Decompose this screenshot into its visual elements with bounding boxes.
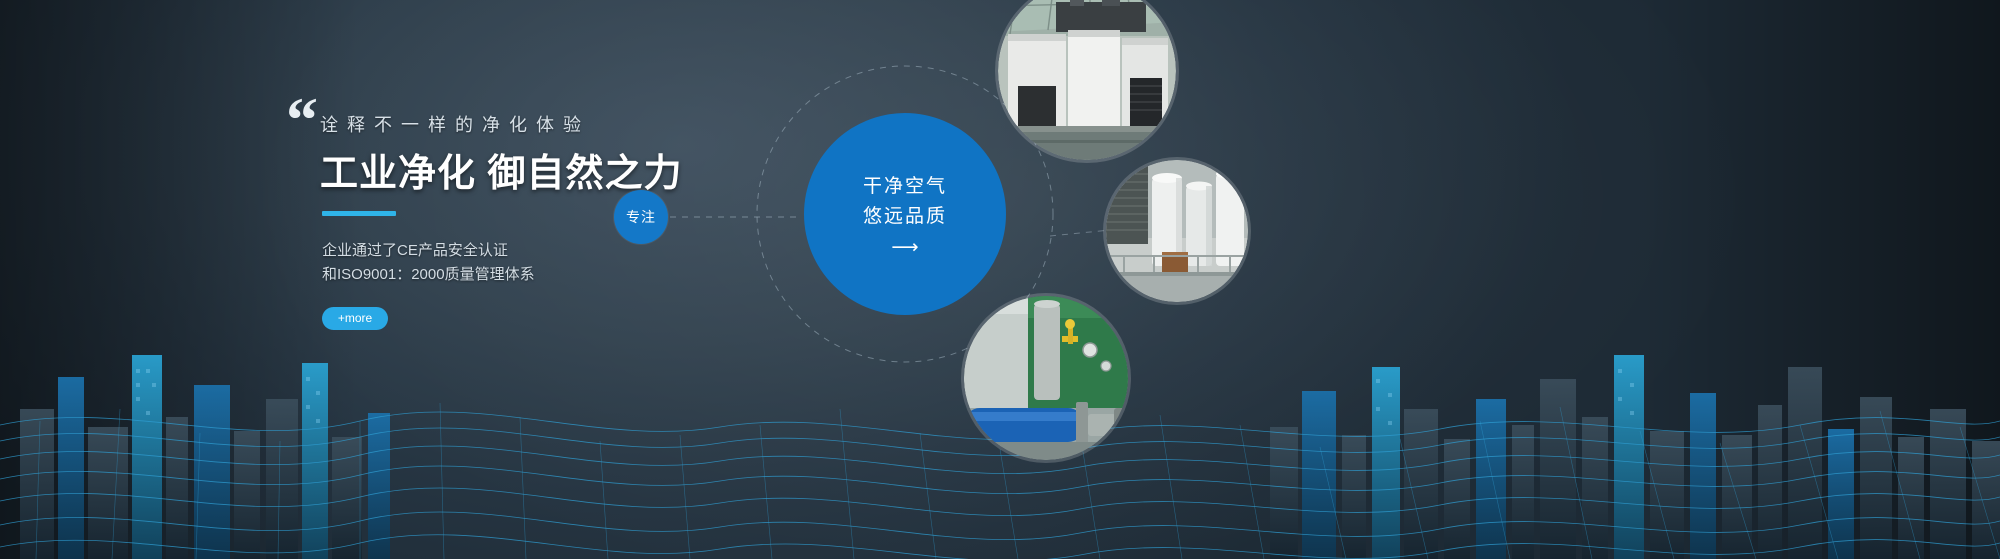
main-feature-circle[interactable]: 干净空气 悠远品质 ⟶ bbox=[804, 113, 1006, 315]
photo-bubble-pipeline-equipment[interactable] bbox=[964, 296, 1128, 460]
hero-body-line-1: 企业通过了CE产品安全认证 bbox=[322, 239, 683, 263]
circle-line-1: 干净空气 bbox=[863, 172, 947, 202]
pipeline-equipment-image bbox=[964, 296, 1128, 460]
photo-bubble-storage-tanks[interactable] bbox=[1106, 160, 1248, 302]
photo-bubble-plant-interior[interactable] bbox=[998, 0, 1176, 160]
hero-headline: 工业净化 御自然之力 bbox=[320, 153, 683, 197]
circle-line-2: 悠远品质 bbox=[863, 202, 947, 232]
accent-divider bbox=[322, 211, 396, 216]
hero-tagline: 诠释不一样的净化体验 bbox=[320, 92, 683, 134]
arrow-right-icon: ⟶ bbox=[891, 238, 918, 257]
hero-body-line-2: 和ISO9001：2000质量管理体系 bbox=[322, 263, 683, 287]
storage-tanks-image bbox=[1106, 160, 1248, 302]
more-button[interactable]: +more bbox=[322, 307, 388, 330]
plant-interior-image bbox=[998, 0, 1176, 160]
quote-mark-icon: “ bbox=[286, 88, 318, 152]
hero-banner: “ 诠释不一样的净化体验 工业净化 御自然之力 企业通过了CE产品安全认证 和I… bbox=[0, 0, 2000, 559]
focus-badge[interactable]: 专注 bbox=[614, 190, 668, 244]
